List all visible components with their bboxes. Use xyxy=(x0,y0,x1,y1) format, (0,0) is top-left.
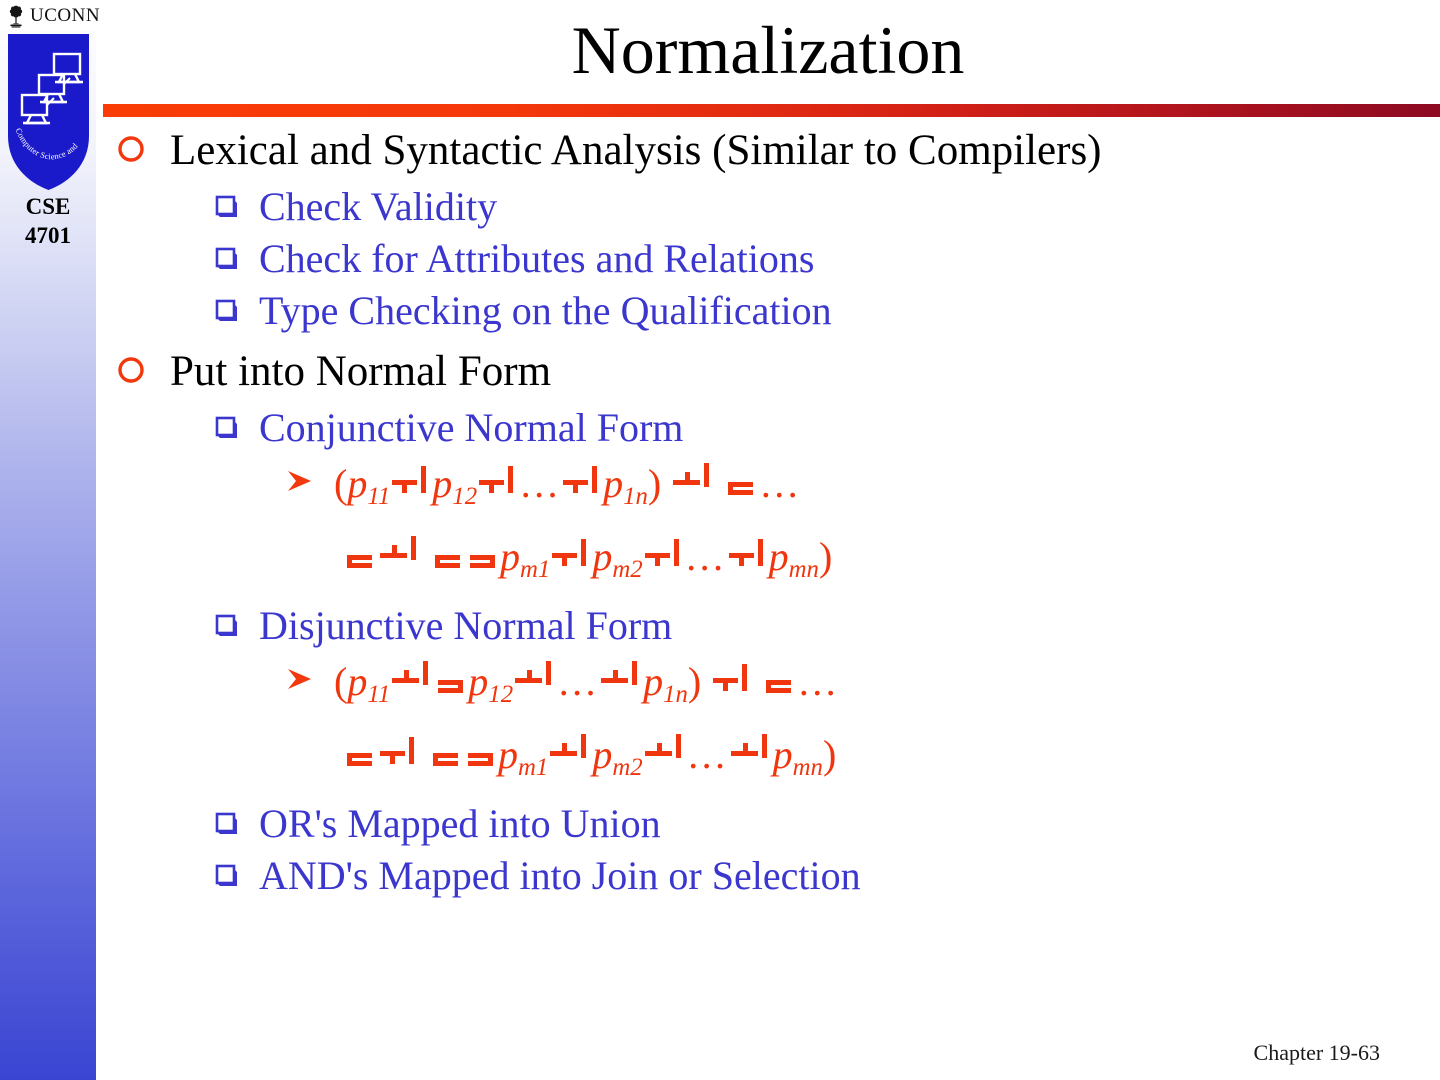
operand-subscript: 11 xyxy=(367,681,390,708)
operand-p: p xyxy=(643,659,663,704)
operand-subscript: 12 xyxy=(452,483,477,510)
or-operator-missing-glyph-icon xyxy=(477,463,519,497)
or-operator-missing-glyph-icon xyxy=(643,536,685,570)
formula-cnf: (p11p12…p1n) … xyxy=(96,454,1440,527)
bullet-text: Check Validity xyxy=(259,181,497,233)
paren-open-missing-glyph-icon xyxy=(464,734,498,768)
paren-open: ( xyxy=(334,461,347,506)
and-operator-missing-glyph-icon xyxy=(643,734,687,768)
formula-dnf: (p11p12…p1n) … xyxy=(96,652,1440,725)
operand-subscript: 11 xyxy=(367,483,390,510)
and-operator-missing-glyph-icon xyxy=(378,536,422,570)
operand-subscript: 1n xyxy=(623,483,648,510)
or-operator-missing-glyph-icon xyxy=(711,661,753,695)
operand-subscript: mn xyxy=(793,754,823,781)
paren-close: ) xyxy=(823,732,836,777)
bullet-text: Check for Attributes and Relations xyxy=(259,233,814,285)
space-missing-glyph-icon xyxy=(344,734,378,768)
and-operator-missing-glyph-icon xyxy=(671,463,715,497)
square-bullet-icon xyxy=(214,233,259,277)
operand-subscript: m1 xyxy=(520,556,550,583)
formula-dnf-line2-body: pm1pm2…pmn) xyxy=(344,725,836,798)
slide-title: Normalization xyxy=(96,8,1440,92)
uconn-wordmark: UCONN xyxy=(30,6,100,25)
square-bullet-icon xyxy=(214,181,259,225)
slide-canvas: UCONN xyxy=(0,0,1440,1080)
bullet-item-check-attributes: Check for Attributes and Relations xyxy=(96,233,1440,285)
and-operator-missing-glyph-icon xyxy=(390,661,434,695)
operand-p: p xyxy=(500,534,520,579)
space-missing-glyph-icon xyxy=(763,661,797,695)
paren-close: ) xyxy=(688,659,701,704)
and-operator-missing-glyph-icon xyxy=(599,661,643,695)
operand-subscript: m2 xyxy=(612,556,642,583)
operand-p: p xyxy=(432,461,452,506)
ellipsis: … xyxy=(519,461,561,506)
bullet-item-conjunctive-normal-form: Conjunctive Normal Form xyxy=(96,402,1440,454)
uconn-oak-crest-icon xyxy=(5,4,27,28)
operand-subscript: 1n xyxy=(663,681,688,708)
arrow-bullet-icon xyxy=(284,454,334,501)
bullet-text: Conjunctive Normal Form xyxy=(259,402,683,454)
ellipsis: … xyxy=(759,461,801,506)
square-bullet-icon xyxy=(214,285,259,329)
operand-p: p xyxy=(592,732,612,777)
bullet-item-ors-mapped-union: OR's Mapped into Union xyxy=(96,798,1440,850)
paren-close: ) xyxy=(819,534,832,579)
formula-cnf-line2-body: pm1pm2…pmn) xyxy=(344,527,832,600)
uconn-brand-bar: UCONN xyxy=(0,0,110,31)
ellipsis: … xyxy=(685,534,727,579)
bullet-item-ands-mapped-join: AND's Mapped into Join or Selection xyxy=(96,850,1440,902)
formula-cnf-line2: pm1pm2…pmn) xyxy=(96,527,1440,600)
or-operator-missing-glyph-icon xyxy=(390,463,432,497)
operand-subscript: m2 xyxy=(612,754,642,781)
operand-p: p xyxy=(603,461,623,506)
slide-body: Lexical and Syntactic Analysis (Similar … xyxy=(96,122,1440,1032)
square-bullet-icon xyxy=(214,402,259,446)
and-operator-missing-glyph-icon xyxy=(729,734,773,768)
square-bullet-icon xyxy=(214,850,259,894)
operand-p: p xyxy=(347,461,367,506)
title-divider-rule xyxy=(103,104,1440,117)
operand-p: p xyxy=(498,732,518,777)
bullet-text: AND's Mapped into Join or Selection xyxy=(259,850,861,902)
bullet-text: Lexical and Syntactic Analysis (Similar … xyxy=(170,122,1102,179)
course-code: CSE xyxy=(0,192,96,221)
formula-dnf-body: (p11p12…p1n) … xyxy=(334,652,839,725)
operand-p: p xyxy=(769,534,789,579)
bullet-item-check-validity: Check Validity xyxy=(96,181,1440,233)
paren-open: ( xyxy=(334,659,347,704)
or-operator-missing-glyph-icon xyxy=(550,536,592,570)
bullet-text: Type Checking on the Qualification xyxy=(259,285,832,337)
and-operator-missing-glyph-icon xyxy=(548,734,592,768)
course-label: CSE 4701 xyxy=(0,192,96,250)
bullet-item-lexical-analysis: Lexical and Syntactic Analysis (Similar … xyxy=(96,122,1440,179)
ellipsis: … xyxy=(687,732,729,777)
formula-cnf-body: (p11p12…p1n) … xyxy=(334,454,801,527)
ellipsis: … xyxy=(557,659,599,704)
formula-dnf-line2: pm1pm2…pmn) xyxy=(96,725,1440,798)
square-bullet-icon xyxy=(214,600,259,644)
space-missing-glyph-icon xyxy=(725,463,759,497)
bullet-item-disjunctive-normal-form: Disjunctive Normal Form xyxy=(96,600,1440,652)
cse-shield-logo: Computer Science and Engineering xyxy=(6,32,91,192)
operand-p: p xyxy=(347,659,367,704)
operand-p: p xyxy=(468,659,488,704)
circle-bullet-icon xyxy=(116,343,170,390)
paren-open-missing-glyph-icon xyxy=(466,536,500,570)
space-missing-glyph-icon xyxy=(432,536,466,570)
bullet-text: Put into Normal Form xyxy=(170,343,551,400)
arrow-bullet-icon xyxy=(284,652,334,699)
circle-bullet-icon xyxy=(116,122,170,169)
bullet-text: Disjunctive Normal Form xyxy=(259,600,672,652)
space-missing-glyph-icon xyxy=(344,536,378,570)
operand-subscript: m1 xyxy=(518,754,548,781)
square-bullet-icon xyxy=(214,798,259,842)
or-operator-missing-glyph-icon xyxy=(378,734,420,768)
operand-subscript: mn xyxy=(789,556,819,583)
operand-p: p xyxy=(773,732,793,777)
course-number: 4701 xyxy=(0,221,96,250)
ellipsis: … xyxy=(797,659,839,704)
operand-p: p xyxy=(592,534,612,579)
and-operator-missing-glyph-icon xyxy=(513,661,557,695)
operand-subscript: 12 xyxy=(488,681,513,708)
slide-footer-chapter: Chapter 19-63 xyxy=(1254,1040,1380,1066)
paren-close: ) xyxy=(648,461,661,506)
bullet-item-type-checking: Type Checking on the Qualification xyxy=(96,285,1440,337)
paren-open-missing-glyph-icon xyxy=(434,661,468,695)
bullet-text: OR's Mapped into Union xyxy=(259,798,661,850)
space-missing-glyph-icon xyxy=(430,734,464,768)
bullet-item-put-into-normal-form: Put into Normal Form xyxy=(96,343,1440,400)
or-operator-missing-glyph-icon xyxy=(727,536,769,570)
or-operator-missing-glyph-icon xyxy=(561,463,603,497)
